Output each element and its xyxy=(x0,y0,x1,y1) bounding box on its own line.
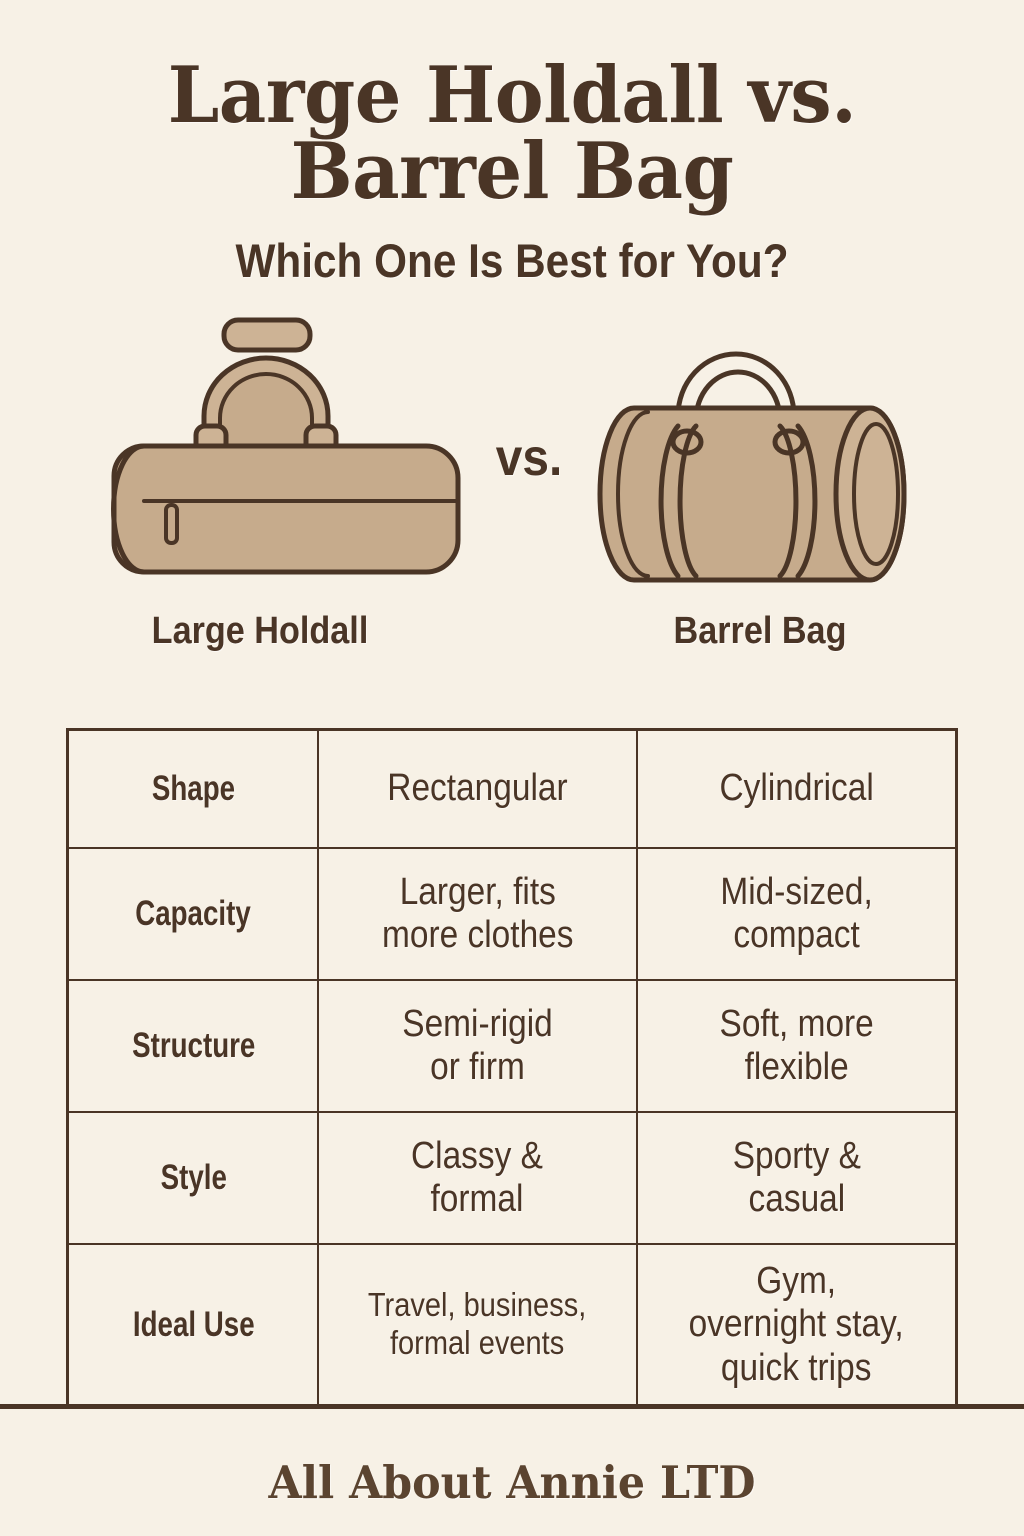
row-label-text: Shape xyxy=(151,769,234,809)
row-label-capacity: Capacity xyxy=(80,848,305,980)
cell-text: Classy &formal xyxy=(411,1135,543,1222)
cell-barrel-structure: Soft, moreflexible xyxy=(637,980,957,1112)
cell-barrel-shape: Cylindrical xyxy=(637,730,957,849)
cell-barrel-ideal-use: Gym,overnight stay,quick trips xyxy=(637,1244,957,1407)
table-row: Capacity Larger, fitsmore clothes Mid-si… xyxy=(68,848,957,980)
header-block: Large Holdall vs. Barrel Bag Which One I… xyxy=(0,0,1024,284)
footer-brand: All About Annie LTD xyxy=(26,1456,999,1509)
barrel-bag-icon xyxy=(570,308,950,598)
row-label-text: Capacity xyxy=(135,894,251,934)
comparison-table: Shape Rectangular Cylindrical Capacity L… xyxy=(66,728,958,1408)
cell-barrel-style: Sporty &casual xyxy=(637,1112,957,1244)
table-row: Style Classy &formal Sporty &casual xyxy=(68,1112,957,1244)
cell-text: Sporty &casual xyxy=(732,1135,860,1222)
row-label-style: Style xyxy=(80,1112,305,1244)
row-label-structure: Structure xyxy=(80,980,305,1112)
holdall-bag-icon xyxy=(96,308,476,598)
caption-row: Large Holdall Barrel Bag xyxy=(0,610,1024,670)
row-label-text: Structure xyxy=(131,1026,254,1066)
cell-text: Semi-rigidor firm xyxy=(402,1003,553,1090)
cell-text: Rectangular xyxy=(387,767,567,810)
cell-barrel-capacity: Mid-sized,compact xyxy=(637,848,957,980)
comparison-table-body: Shape Rectangular Cylindrical Capacity L… xyxy=(68,730,957,1407)
page-title: Large Holdall vs. Barrel Bag xyxy=(145,58,878,211)
page-title-line1: Large Holdall vs. xyxy=(145,58,878,134)
cell-holdall-ideal-use: Travel, business,formal events xyxy=(318,1244,637,1407)
holdall-bag-illustration xyxy=(96,308,476,603)
cell-holdall-structure: Semi-rigidor firm xyxy=(318,980,637,1112)
cell-text: Gym,overnight stay,quick trips xyxy=(689,1260,904,1390)
cell-text: Larger, fitsmore clothes xyxy=(382,871,573,958)
page-subtitle: Which One Is Best for You? xyxy=(51,237,973,284)
caption-barrel: Barrel Bag xyxy=(580,610,940,653)
cell-text: Mid-sized,compact xyxy=(720,871,872,958)
page-title-line2: Barrel Bag xyxy=(145,134,878,210)
cell-text: Travel, business,formal events xyxy=(368,1286,586,1361)
row-label-shape: Shape xyxy=(80,730,305,849)
table-row: Shape Rectangular Cylindrical xyxy=(68,730,957,849)
cell-holdall-shape: Rectangular xyxy=(318,730,637,849)
infographic-page: Large Holdall vs. Barrel Bag Which One I… xyxy=(0,0,1024,1536)
caption-holdall: Large Holdall xyxy=(80,610,440,653)
table-row: Structure Semi-rigidor firm Soft, morefl… xyxy=(68,980,957,1112)
cell-text: Cylindrical xyxy=(719,767,873,810)
cell-text: Soft, moreflexible xyxy=(719,1003,873,1090)
cell-holdall-capacity: Larger, fitsmore clothes xyxy=(318,848,637,980)
row-label-text: Ideal Use xyxy=(132,1305,254,1345)
row-label-text: Style xyxy=(160,1158,226,1198)
illustration-row: vs. xyxy=(0,308,1024,608)
table-row: Ideal Use Travel, business,formal events… xyxy=(68,1244,957,1407)
versus-label: vs. xyxy=(478,428,579,488)
barrel-bag-illustration xyxy=(570,308,950,603)
comparison-table-wrap: Shape Rectangular Cylindrical Capacity L… xyxy=(66,728,958,1408)
footer-divider xyxy=(0,1404,1024,1409)
row-label-ideal-use: Ideal Use xyxy=(80,1244,305,1407)
cell-holdall-style: Classy &formal xyxy=(318,1112,637,1244)
